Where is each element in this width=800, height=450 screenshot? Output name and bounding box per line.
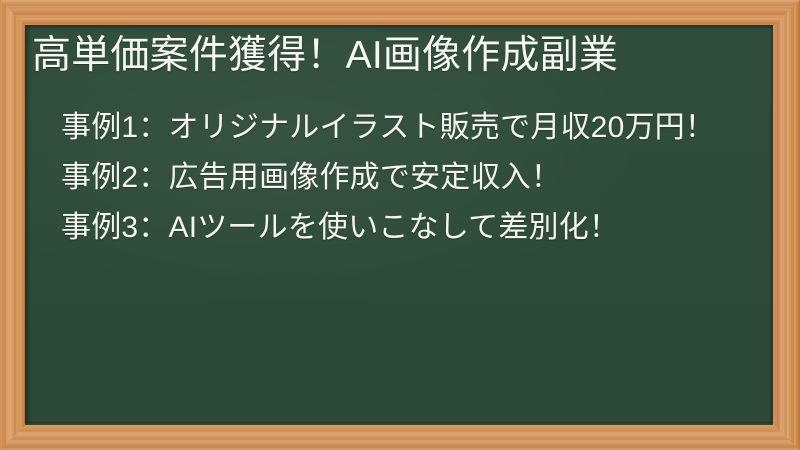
- slide-body-line-1: 事例1：オリジナルイラスト販売で月収20万円！: [61, 103, 761, 153]
- frame-right-rail: [773, 0, 800, 450]
- blackboard-surface: 高単価案件獲得！AI画像作成副業 事例1：オリジナルイラスト販売で月収20万円！…: [25, 25, 773, 425]
- frame-bottom-ledge: [0, 424, 800, 450]
- board-bottom-lip: [25, 422, 773, 425]
- slide-title: 高単価案件獲得！AI画像作成副業: [32, 33, 762, 79]
- slide-body-line-3: 事例3：AIツールを使いこなして差別化！: [61, 203, 761, 253]
- slide-body-line-2: 事例2：広告用画像作成で安定収入！: [61, 153, 761, 203]
- slide-body-list: 事例1：オリジナルイラスト販売で月収20万円！ 事例2：広告用画像作成で安定収入…: [61, 103, 761, 253]
- blackboard-slide: 高単価案件獲得！AI画像作成副業 事例1：オリジナルイラスト販売で月収20万円！…: [0, 0, 800, 450]
- frame-left-rail: [0, 0, 26, 450]
- board-content: 高単価案件獲得！AI画像作成副業 事例1：オリジナルイラスト販売で月収20万円！…: [25, 25, 773, 425]
- frame-top-rail: [0, 0, 800, 26]
